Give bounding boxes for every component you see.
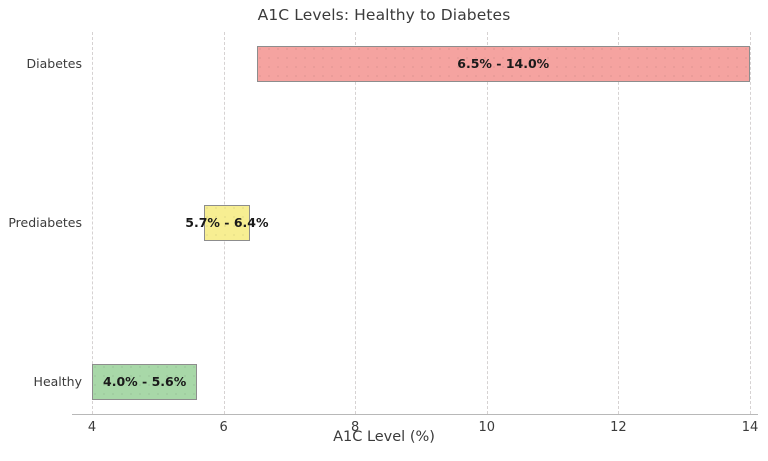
plot-area: 6.5% - 14.0%5.7% - 6.4%4.0% - 5.6% [92, 32, 750, 414]
y-tick-label-diabetes: Diabetes [0, 56, 82, 71]
x-axis-spine [72, 414, 758, 415]
gridline [618, 32, 619, 414]
y-tick-label-prediabetes: Prediabetes [0, 215, 82, 230]
bar-value-label: 4.0% - 5.6% [103, 364, 186, 400]
gridline [355, 32, 356, 414]
bar-value-label: 6.5% - 14.0% [457, 46, 549, 82]
chart-figure: A1C Levels: Healthy to Diabetes Diabetes… [0, 0, 768, 461]
gridline [92, 32, 93, 414]
x-axis-title: A1C Level (%) [0, 429, 768, 445]
chart-title: A1C Levels: Healthy to Diabetes [0, 6, 768, 24]
gridline [487, 32, 488, 414]
bar-value-label: 5.7% - 6.4% [185, 205, 268, 241]
y-tick-label-healthy: Healthy [0, 374, 82, 389]
gridline [750, 32, 751, 414]
y-axis-tick-labels: DiabetesPrediabetesHealthy [0, 32, 82, 414]
